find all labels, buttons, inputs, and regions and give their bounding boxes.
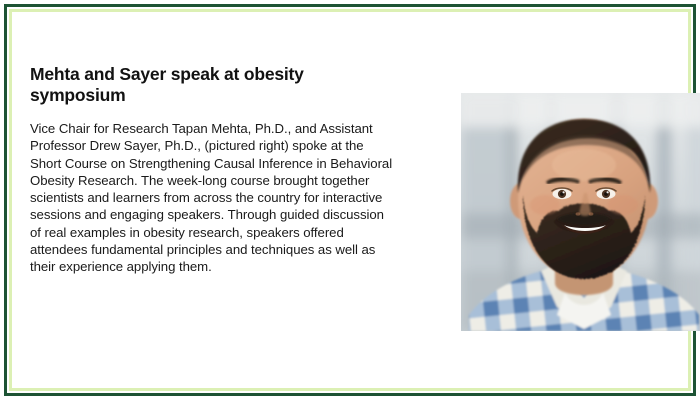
page-title: Mehta and Sayer speak at obesity symposi… [30, 64, 398, 106]
article-text-column: Mehta and Sayer speak at obesity symposi… [30, 64, 398, 276]
card-content: Mehta and Sayer speak at obesity symposi… [12, 12, 688, 388]
headshot-photo [461, 93, 700, 331]
card-inner-border: Mehta and Sayer speak at obesity symposi… [9, 9, 691, 391]
article-card: Mehta and Sayer speak at obesity symposi… [4, 4, 696, 396]
headshot-photo-image [461, 93, 700, 331]
article-body-text: Vice Chair for Research Tapan Mehta, Ph.… [30, 120, 398, 276]
